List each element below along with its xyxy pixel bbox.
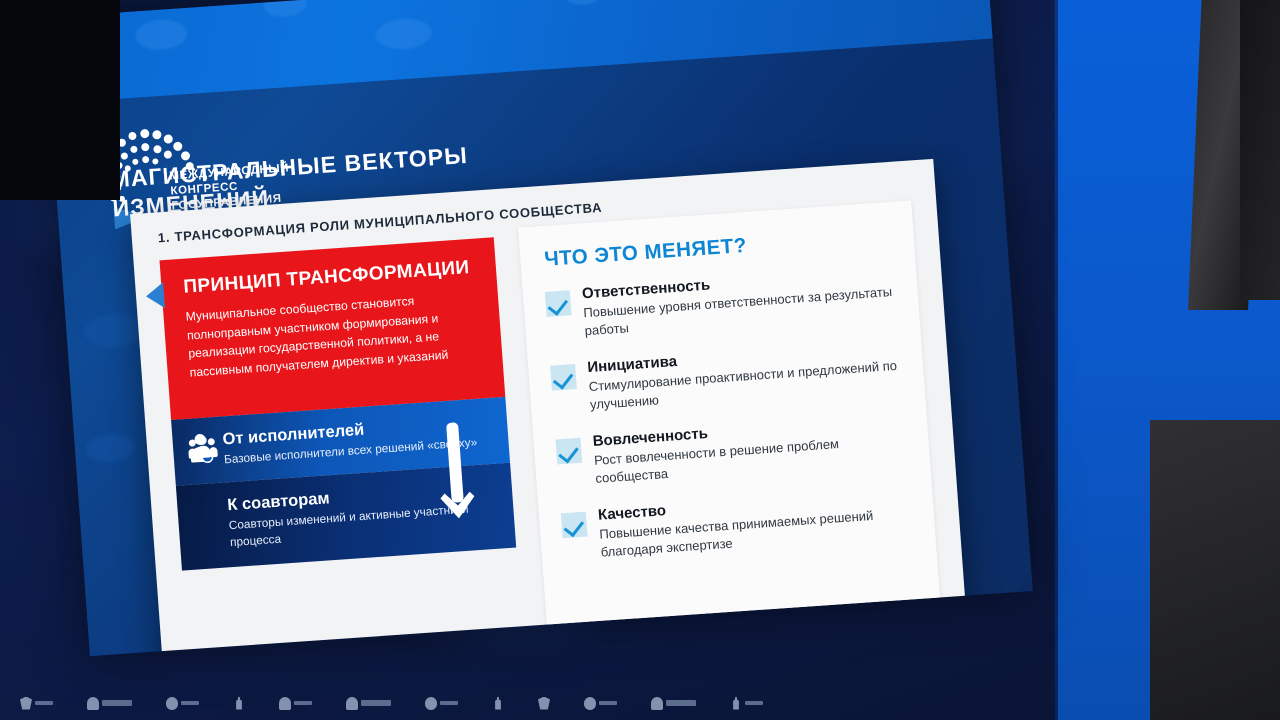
- check-icon: [556, 438, 583, 465]
- sponsor-wordmark: [102, 700, 132, 706]
- sponsor-mark-icon: [492, 697, 504, 710]
- bokeh-dot: [262, 0, 308, 19]
- sponsor-logo: [730, 697, 763, 710]
- sponsor-logo: [584, 697, 617, 710]
- changes-panel: ЧТО ЭТО МЕНЯЕТ? Ответственность Повышени…: [518, 200, 941, 641]
- sponsor-logo: [492, 697, 504, 710]
- sponsor-logo: [425, 697, 458, 710]
- sponsor-mark-icon: [20, 697, 32, 710]
- slide-page-number: 5: [915, 613, 923, 628]
- sponsor-logo: [166, 697, 199, 710]
- change-item: Качество Повышение качества принимаемых …: [561, 485, 918, 564]
- hall-dark-corner: [0, 0, 120, 200]
- sponsor-mark-icon: [87, 697, 99, 710]
- sponsor-logo: [346, 697, 391, 710]
- sponsor-mark-icon: [279, 697, 291, 710]
- bokeh-dot: [134, 18, 188, 52]
- bokeh-dot: [84, 433, 136, 464]
- slide-content-card: 1. ТРАНСФОРМАЦИЯ РОЛИ МУНИЦИПАЛЬНОГО СОО…: [130, 159, 967, 656]
- changes-panel-title: ЧТО ЭТО МЕНЯЕТ?: [544, 222, 915, 271]
- check-icon: [561, 512, 588, 539]
- principle-block: ПРИНЦИП ТРАНСФОРМАЦИИ Муниципальное сооб…: [160, 237, 506, 420]
- conference-hall-photo: ПРАВИТЕЛЬСТВО РОССИЙСКОЙ ФЕДЕРАЦИИ Админ…: [0, 0, 1280, 720]
- sponsor-wordmark: [35, 701, 53, 705]
- slide-board: ПРАВИТЕЛЬСТВО РОССИЙСКОЙ ФЕДЕРАЦИИ Админ…: [44, 0, 1033, 656]
- change-item: Вовлеченность Рост вовлеченности в решен…: [555, 411, 912, 490]
- left-column: ПРИНЦИП ТРАНСФОРМАЦИИ Муниципальное сооб…: [160, 237, 517, 570]
- partner-banner-band: ПРАВИТЕЛЬСТВО РОССИЙСКОЙ ФЕДЕРАЦИИ Админ…: [44, 0, 993, 104]
- sponsor-logo: [651, 697, 696, 710]
- sponsor-logo: [87, 697, 132, 710]
- sponsor-mark-icon: [651, 697, 663, 710]
- sponsor-logo: [279, 697, 312, 710]
- accent-triangle-icon: [145, 282, 165, 309]
- sponsor-wordmark: [599, 701, 617, 705]
- sponsor-wordmark: [666, 700, 696, 706]
- sponsor-wordmark: [440, 701, 458, 705]
- check-icon: [545, 290, 572, 317]
- sponsor-wordmark: [294, 701, 312, 705]
- role-transition-block: От исполнителей Базовые исполнители всех…: [171, 397, 516, 571]
- change-item: Ответственность Повышение уровня ответст…: [545, 264, 902, 343]
- sponsor-mark-icon: [346, 697, 358, 710]
- wall-edge-divider: [1054, 0, 1058, 720]
- sponsor-logo: [538, 697, 550, 710]
- sponsor-logo: [20, 697, 53, 710]
- sponsor-mark-icon: [233, 697, 245, 710]
- check-icon: [550, 364, 577, 391]
- sponsor-wordmark: [361, 700, 391, 706]
- bokeh-dot: [375, 17, 433, 51]
- sponsor-mark-icon: [166, 697, 178, 710]
- sponsor-logo: [233, 697, 245, 710]
- change-item: Инициатива Стимулирование проактивности …: [550, 337, 907, 416]
- projection-screen: ПРАВИТЕЛЬСТВО РОССИЙСКОЙ ФЕДЕРАЦИИ Админ…: [38, 0, 1051, 698]
- sponsor-mark-icon: [730, 697, 742, 710]
- sponsor-mark-icon: [425, 697, 437, 710]
- people-group-icon: [188, 435, 216, 459]
- sponsor-mark-icon: [538, 697, 550, 710]
- sponsor-wordmark: [745, 701, 763, 705]
- sponsor-wordmark: [181, 701, 199, 705]
- stage-lower-structure: [1150, 420, 1280, 720]
- bokeh-dot: [83, 312, 145, 350]
- principle-body: Муниципальное сообщество становится полн…: [185, 288, 483, 382]
- stage-pillar-secondary: [1240, 0, 1280, 300]
- bokeh-dot: [562, 0, 604, 6]
- sponsor-mark-icon: [584, 697, 596, 710]
